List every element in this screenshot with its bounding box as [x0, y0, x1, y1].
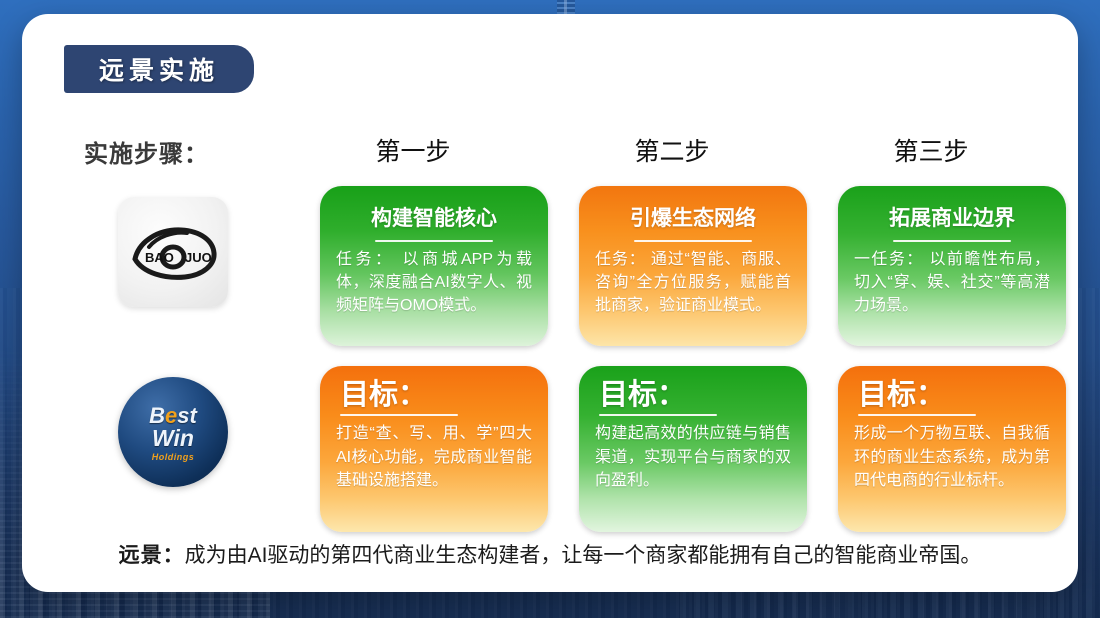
task-card-3-body: 一任务： 以前瞻性布局，切入“穿、娱、社交”等高潜力场景。	[854, 249, 1050, 317]
slide-canvas: 远景实施 实施步骤： 第一步 第二步 第三步 BAO JUO Best Win …	[0, 0, 1100, 618]
goal-card-2: 目标： 构建起高效的供应链与销售渠道，实现平台与商家的双向盈利。	[579, 366, 807, 532]
task-card-2-divider	[634, 240, 752, 242]
vision-label: 远景：	[119, 544, 185, 567]
steps-label: 实施步骤：	[84, 134, 209, 169]
baojuo-logo: BAO JUO	[118, 197, 228, 307]
bestwin-logo: Best Win Holdings	[118, 377, 228, 487]
bestwin-logo-line1: Best	[149, 406, 197, 427]
goal-card-1-divider	[340, 414, 458, 416]
baojuo-logo-icon: BAO JUO	[125, 217, 221, 287]
goal-card-3-title: 目标：	[858, 380, 1050, 410]
slide-title-badge: 远景实施	[64, 45, 254, 93]
step-header-2: 第二步	[562, 132, 782, 168]
svg-text:JUO: JUO	[185, 250, 212, 265]
goal-card-3-divider	[858, 414, 976, 416]
task-card-1-title: 构建智能核心	[336, 206, 532, 231]
content-panel: 远景实施 实施步骤： 第一步 第二步 第三步 BAO JUO Best Win …	[22, 14, 1078, 592]
goal-card-2-body: 构建起高效的供应链与销售渠道，实现平台与商家的双向盈利。	[595, 422, 791, 492]
task-card-2: 引爆生态网络 任务： 通过“智能、商服、咨询”全方位服务，赋能首批商家，验证商业…	[579, 186, 807, 346]
goal-card-1-title: 目标：	[340, 380, 532, 410]
goal-card-2-divider	[599, 414, 717, 416]
bestwin-logo-line3: Holdings	[152, 452, 195, 462]
task-card-2-body: 任务： 通过“智能、商服、咨询”全方位服务，赋能首批商家，验证商业模式。	[595, 249, 791, 317]
goal-card-3: 目标： 形成一个万物互联、自我循环的商业生态系统，成为第四代电商的行业标杆。	[838, 366, 1066, 532]
task-card-2-title: 引爆生态网络	[595, 206, 791, 231]
vision-text: 成为由AI驱动的第四代商业生态构建者，让每一个商家都能拥有自己的智能商业帝国。	[185, 544, 982, 567]
step-header-1: 第一步	[303, 132, 523, 168]
vision-statement: 远景：成为由AI驱动的第四代商业生态构建者，让每一个商家都能拥有自己的智能商业帝…	[22, 539, 1078, 569]
task-card-3: 拓展商业边界 一任务： 以前瞻性布局，切入“穿、娱、社交”等高潜力场景。	[838, 186, 1066, 346]
slide-title-text: 远景实施	[99, 51, 219, 87]
baojuo-logo-text: BAO	[145, 250, 174, 265]
goal-card-1: 目标： 打造“查、写、用、学”四大AI核心功能，完成商业智能基础设施搭建。	[320, 366, 548, 532]
step-header-3: 第三步	[821, 132, 1041, 168]
task-card-3-title: 拓展商业边界	[854, 206, 1050, 231]
goal-card-3-body: 形成一个万物互联、自我循环的商业生态系统，成为第四代电商的行业标杆。	[854, 422, 1050, 492]
task-card-1-body: 任务： 以商城APP为载体，深度融合AI数字人、视频矩阵与OMO模式。	[336, 249, 532, 317]
bestwin-logo-line2: Win	[152, 427, 194, 450]
goal-card-1-body: 打造“查、写、用、学”四大AI核心功能，完成商业智能基础设施搭建。	[336, 422, 532, 492]
task-card-1-divider	[375, 240, 493, 242]
goal-card-2-title: 目标：	[599, 380, 791, 410]
task-card-3-divider	[893, 240, 1011, 242]
task-card-1: 构建智能核心 任务： 以商城APP为载体，深度融合AI数字人、视频矩阵与OMO模…	[320, 186, 548, 346]
